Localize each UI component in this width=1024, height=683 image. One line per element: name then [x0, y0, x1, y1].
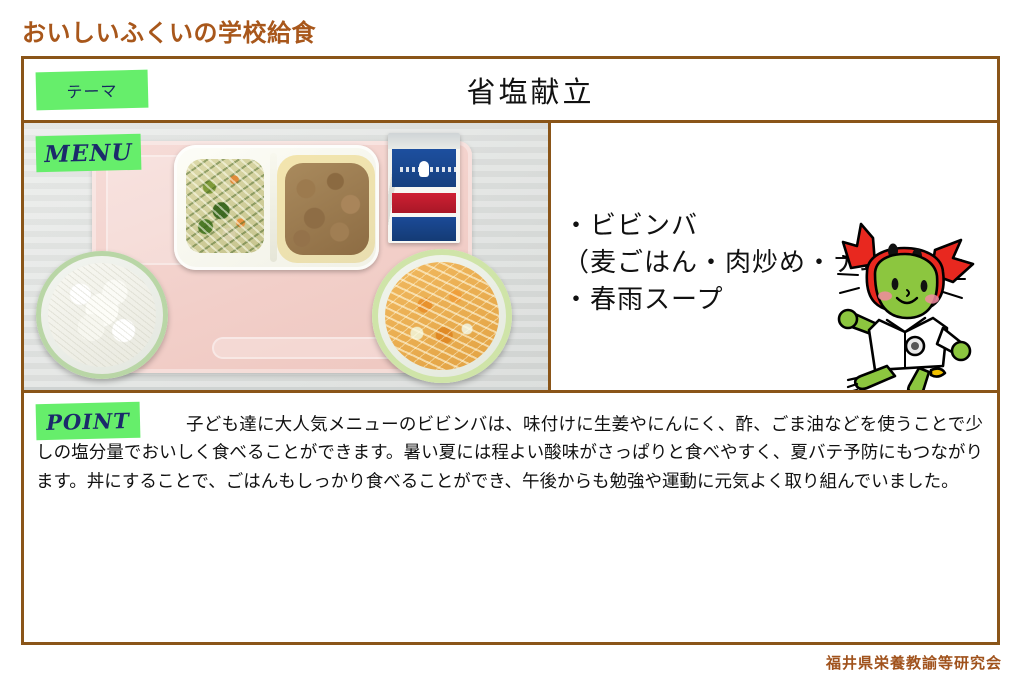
page-title: おいしいふくいの学校給食 — [22, 13, 316, 48]
menu-marker-label: MENU — [36, 134, 142, 173]
fukui-crab-mascot — [831, 220, 991, 390]
point-description-text: 子ども達に大人気メニューのビビンバは、味付けに生姜やにんにく、酢、ごま油などを使… — [36, 411, 983, 496]
barley-rice — [48, 263, 156, 367]
rice-bowl — [36, 251, 168, 379]
milk-carton-red-band — [392, 193, 456, 213]
menu-row: MENU ・ビビンバ （麦ごはん・肉炒め・ナムル） ・春雨スープ — [24, 123, 997, 393]
harusame-soup-bowl — [372, 249, 512, 383]
poster-frame: テーマ 省塩献立 — [21, 56, 1000, 645]
plate-divider — [270, 153, 277, 262]
theme-row: テーマ 省塩献立 — [24, 59, 997, 123]
milk-carton-top — [388, 133, 460, 149]
footer-organization: 福井県栄養教諭等研究会 — [826, 652, 1002, 673]
lunch-photo-cell: MENU — [24, 123, 551, 390]
menu-text-cell: ・ビビンバ （麦ごはん・肉炒め・ナムル） ・春雨スープ — [551, 123, 997, 390]
poster-page: おいしいふくいの学校給食 テーマ 省塩献立 — [0, 0, 1024, 683]
milk-carton — [388, 133, 460, 243]
milk-carton-figure-icon — [419, 161, 429, 177]
milk-carton-lower-band — [392, 217, 456, 241]
harusame-soup — [385, 262, 499, 370]
divided-plate — [174, 145, 379, 270]
point-row: POINT 子ども達に大人気メニューのビビンバは、味付けに生姜やにんにく、酢、ご… — [24, 393, 997, 642]
theme-title: 省塩献立 — [24, 59, 997, 120]
namul-vegetables — [186, 159, 264, 253]
stir-fried-meat — [285, 163, 369, 255]
point-description: 子ども達に大人気メニューのビビンバは、味付けに生姜やにんにく、酢、ごま油などを使… — [36, 411, 983, 496]
